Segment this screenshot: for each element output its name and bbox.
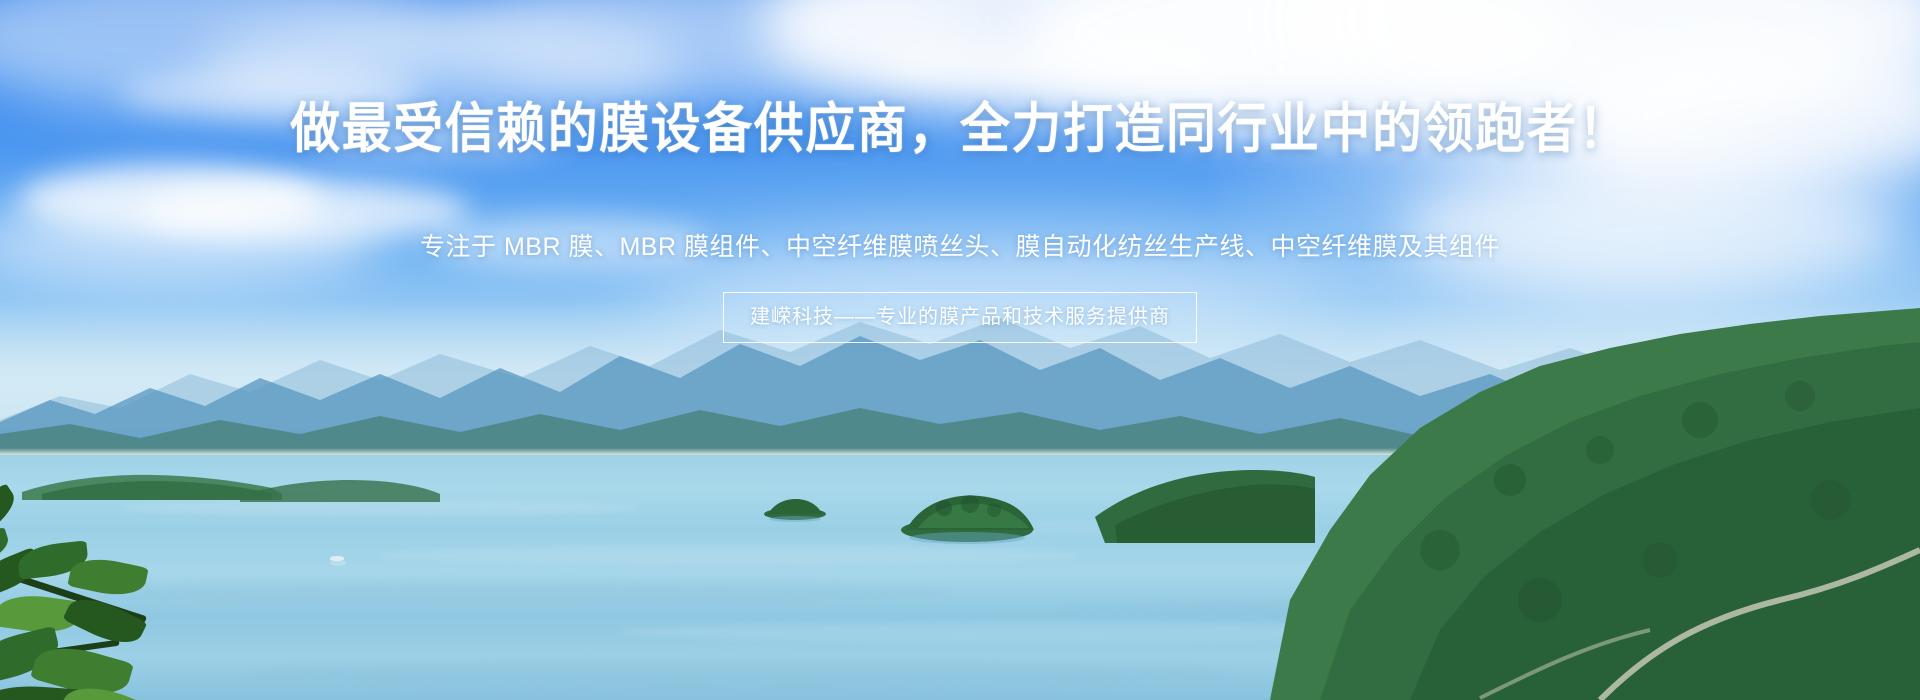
island-mid-left (240, 468, 440, 504)
peninsula-tip (1095, 455, 1315, 545)
water-ripple (240, 660, 1240, 686)
hero-banner: 做最受信赖的膜设备供应商，全力打造同行业中的领跑者！ 专注于 MBR 膜、MBR… (0, 0, 1920, 700)
island-small-left (760, 492, 830, 522)
water-ripple (380, 545, 1080, 565)
island-center (892, 478, 1042, 544)
cloud (880, 40, 1220, 86)
banner-tagline: 建嵘科技——专业的膜产品和技术服务提供商 (723, 292, 1197, 343)
boat (330, 556, 344, 561)
banner-headline: 做最受信赖的膜设备供应商，全力打造同行业中的领跑者！ (77, 101, 1843, 157)
banner-subheadline: 专注于 MBR 膜、MBR 膜组件、中空纤维膜喷丝头、膜自动化纺丝生产线、中空纤… (0, 230, 1920, 264)
foreground-foliage (0, 440, 270, 700)
